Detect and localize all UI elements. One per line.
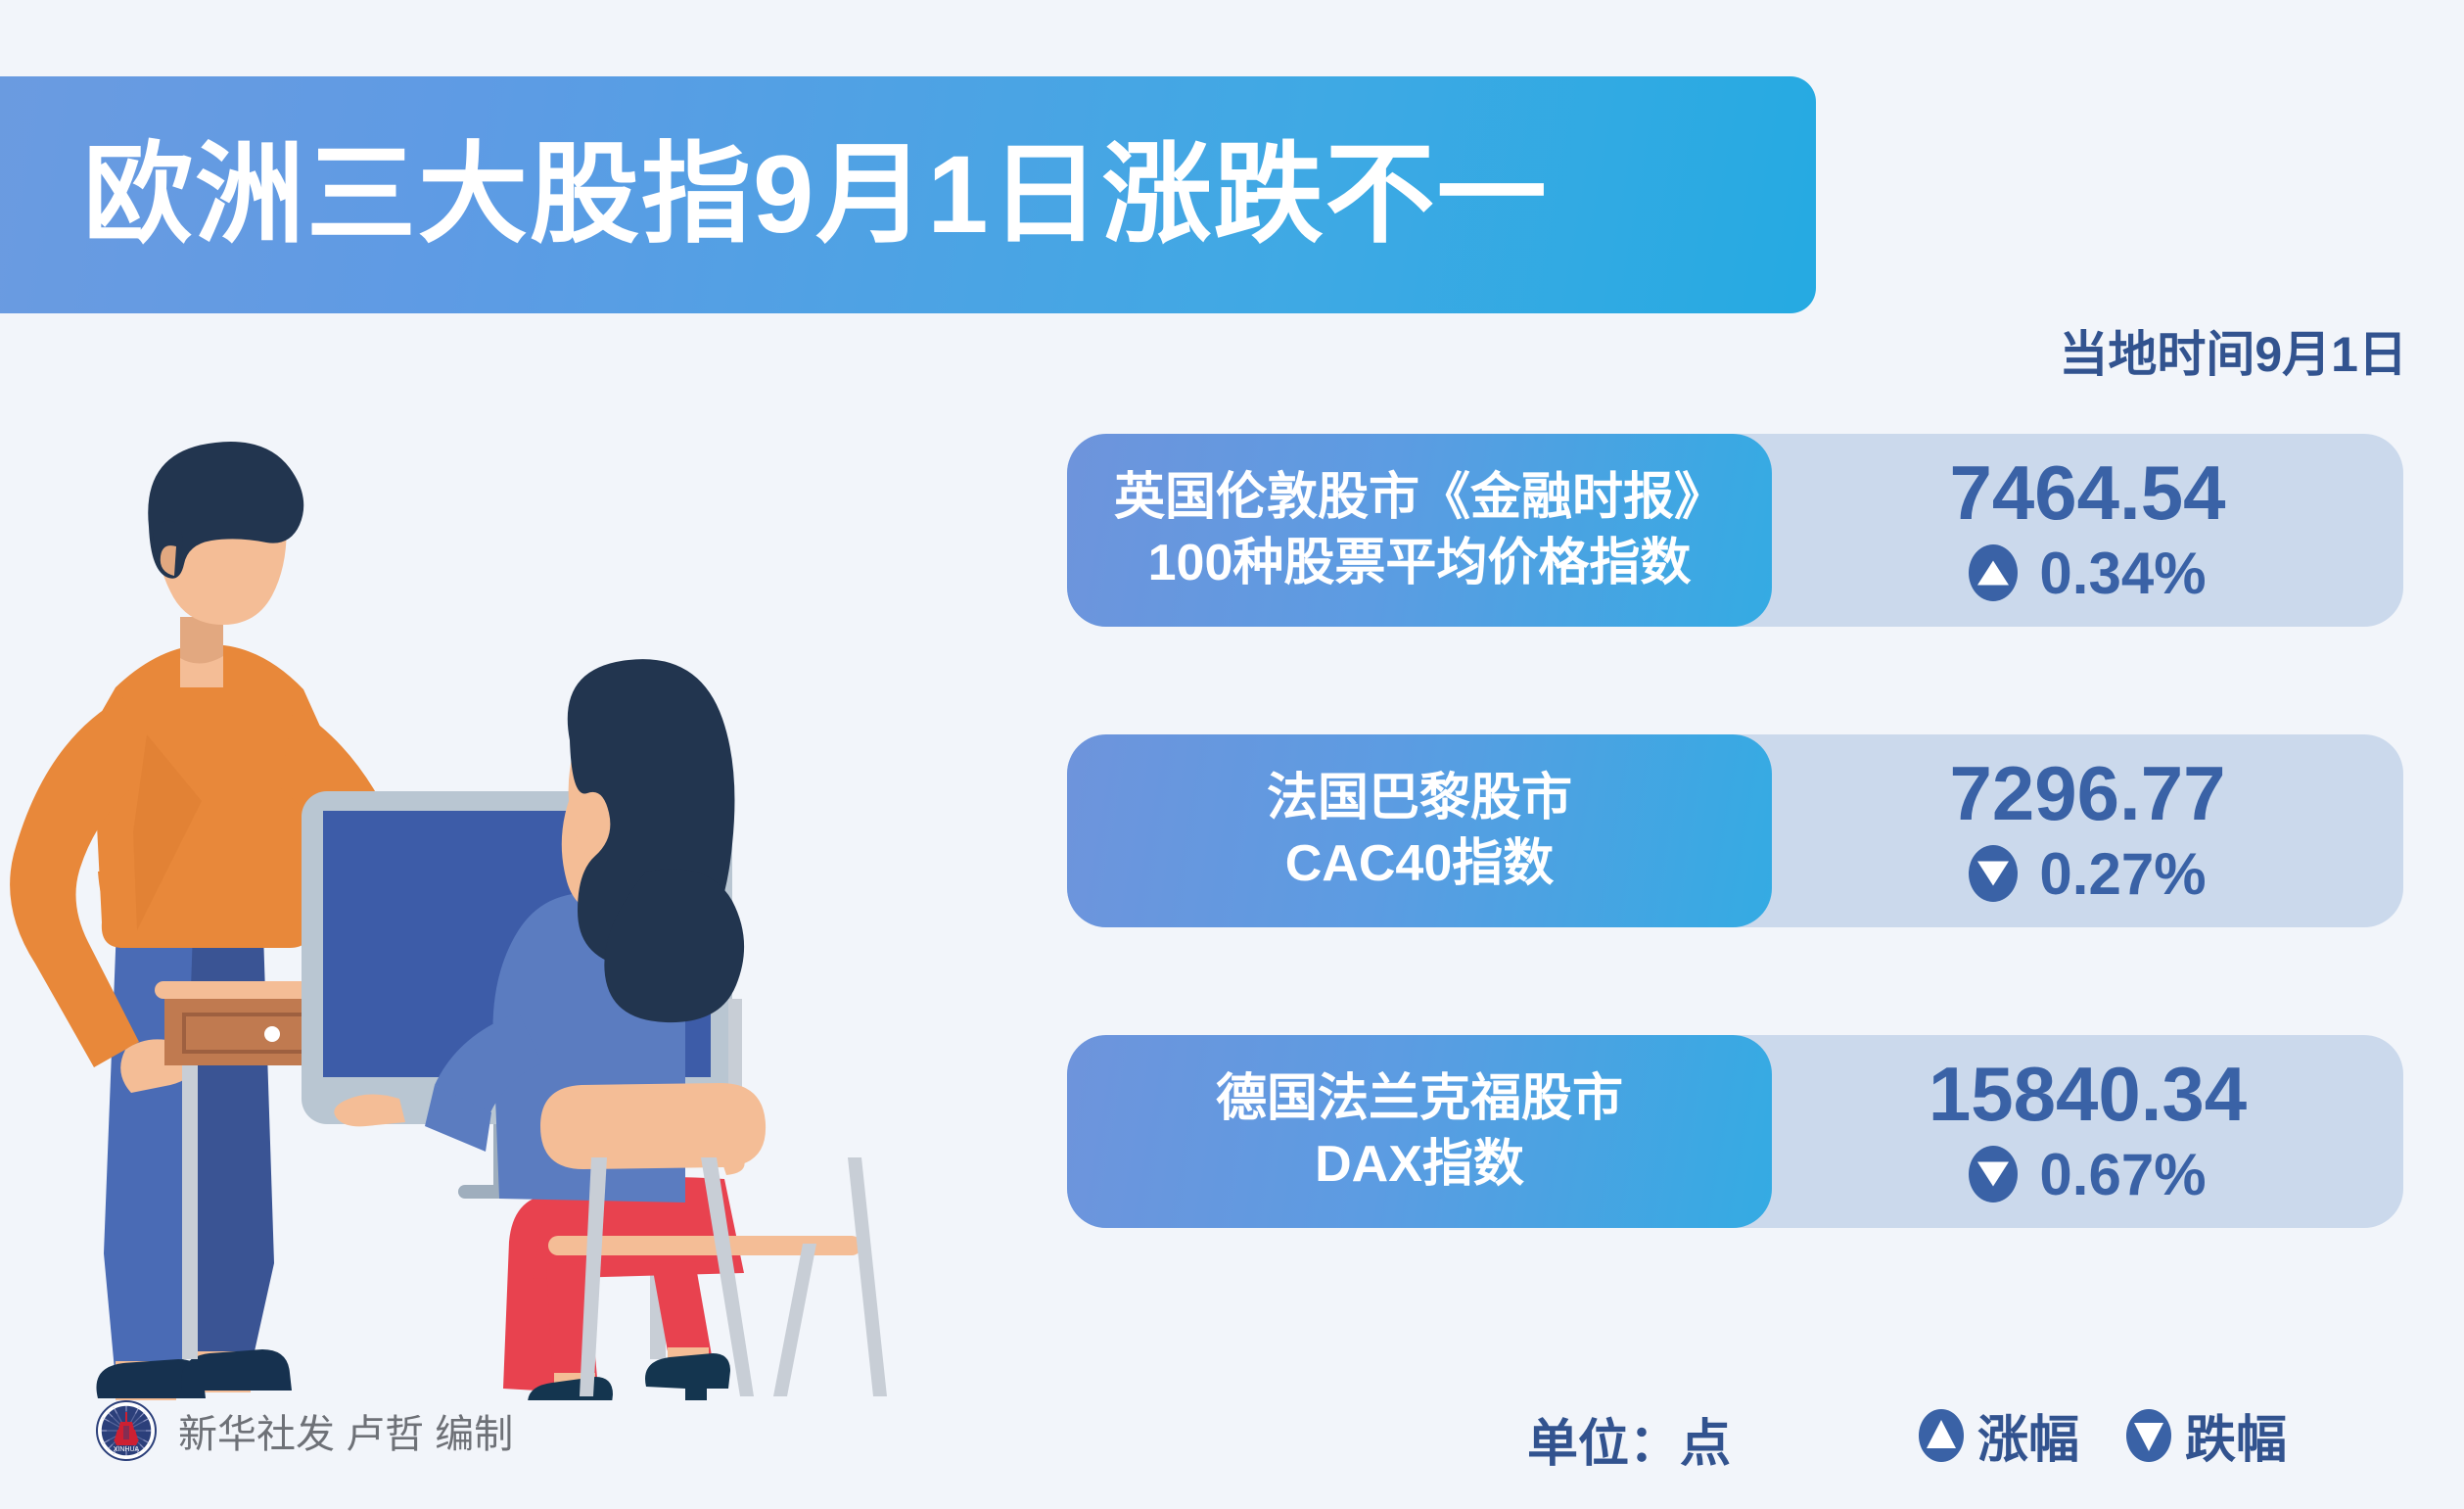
index-percent: 0.67% [2039,1141,2206,1208]
unit-label: 单位：点 [1527,1402,1731,1476]
triangle-down-icon [1969,1146,2018,1202]
index-rows: 英国伦敦股市《金融时报》 100种股票平均价格指数 7464.54 0.34% … [1067,434,2403,1228]
index-value: 15840.34 [1929,1055,2247,1134]
index-name-pill: 法国巴黎股市 CAC40指数 [1067,734,1772,927]
index-name-line-1: 法国巴黎股市 [1267,766,1572,831]
credit-line: XINHUA 新华社发 卢哲 编制 [96,1400,513,1461]
credit-text: 新华社发 卢哲 编制 [178,1402,513,1459]
table-row: 德国法兰克福股市 DAX指数 15840.34 0.67% [1067,1035,2403,1228]
index-name-line-1: 英国伦敦股市《金融时报》 [1114,465,1725,531]
triangle-up-icon [1969,544,2018,601]
legend-item-up: 涨幅 [1919,1398,2079,1472]
table-row: 法国巴黎股市 CAC40指数 7296.77 0.27% [1067,734,2403,927]
table-row: 英国伦敦股市《金融时报》 100种股票平均价格指数 7464.54 0.34% [1067,434,2403,627]
page-title: 欧洲三大股指9月1日涨跌不一 [83,140,1549,250]
index-value: 7296.77 [1950,754,2226,833]
index-percent: 0.27% [2039,840,2206,908]
index-name-pill: 德国法兰克福股市 DAX指数 [1067,1035,1772,1228]
local-date-label: 当地时间9月1日 [2059,315,2407,386]
index-name-pill: 英国伦敦股市《金融时报》 100种股票平均价格指数 [1067,434,1772,627]
index-change: 0.27% [1969,840,2206,908]
triangle-down-icon [1969,845,2018,902]
index-percent: 0.34% [2039,540,2206,607]
legend: 涨幅 跌幅 [1919,1398,2287,1472]
index-metric: 15840.34 0.67% [1772,1035,2403,1228]
triangle-down-icon [2126,1409,2171,1462]
legend-label-down: 跌幅 [2185,1398,2287,1472]
index-name-line-2: CAC40指数 [1285,831,1555,897]
index-name-line-2: 100种股票平均价格指数 [1148,531,1692,596]
index-metric: 7296.77 0.27% [1772,734,2403,927]
legend-label-up: 涨幅 [1977,1398,2079,1472]
index-change: 0.67% [1969,1141,2206,1208]
title-banner-wrap: 欧洲三大股指9月1日涨跌不一 [0,76,1816,313]
svg-text:XINHUA: XINHUA [114,1446,140,1453]
office-workers-illustration [0,323,1038,1400]
index-value: 7464.54 [1950,453,2226,533]
xinhua-logo: XINHUA [96,1400,157,1461]
index-name-line-2: DAX指数 [1315,1132,1524,1198]
title-banner: 欧洲三大股指9月1日涨跌不一 [0,76,1816,313]
index-change: 0.34% [1969,540,2206,607]
triangle-up-icon [1919,1409,1964,1462]
legend-item-down: 跌幅 [2126,1398,2287,1472]
index-metric: 7464.54 0.34% [1772,434,2403,627]
index-name-line-1: 德国法兰克福股市 [1216,1066,1623,1132]
